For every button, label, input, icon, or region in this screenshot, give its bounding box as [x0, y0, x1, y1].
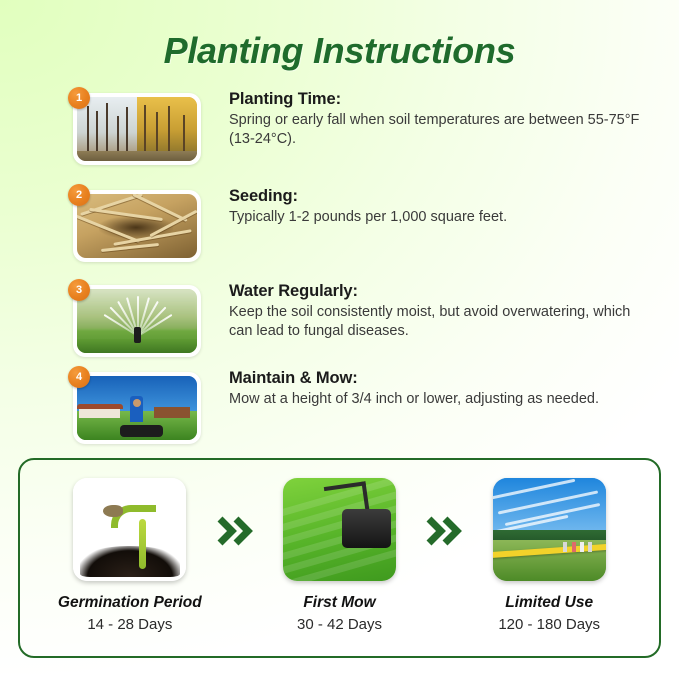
step-thumbnail-4: 4: [68, 372, 201, 444]
step-number-badge-1: 1: [68, 87, 90, 109]
page-title: Planting Instructions: [0, 0, 679, 72]
step-text-3: Water Regularly: Keep the soil consisten…: [201, 278, 644, 342]
step-number-badge-4: 4: [68, 366, 90, 388]
step-item-4: 4: [68, 365, 653, 444]
step-title-3: Water Regularly:: [229, 282, 644, 301]
timeline-stage-label-2: First Mow: [303, 594, 375, 612]
timeline-stage-label-3: Limited Use: [505, 594, 593, 612]
double-chevron-right-icon-2: [423, 512, 465, 550]
step-item-1: 1: [68, 86, 653, 165]
step-item-3: 3: [68, 278, 653, 357]
step-item-2: 2: [68, 183, 653, 262]
mowed-lawn-photo: [283, 478, 396, 581]
seed-sprout-photo: [73, 478, 186, 581]
step-thumbnail-2: 2: [68, 190, 201, 262]
person-mowing-photo: [77, 376, 197, 440]
step-description-1: Spring or early fall when soil temperatu…: [229, 111, 644, 150]
thumbnail-frame-4: [73, 372, 201, 444]
step-title-1: Planting Time:: [229, 90, 644, 109]
timeline-stage-germination: Germination Period 14 - 28 Days: [46, 478, 214, 633]
thumbnail-frame-1: [73, 93, 201, 165]
timeline-stage-limited-use: Limited Use 120 - 180 Days: [465, 478, 633, 633]
step-description-2: Typically 1-2 pounds per 1,000 square fe…: [229, 208, 507, 227]
step-description-3: Keep the soil consistently moist, but av…: [229, 303, 644, 342]
step-title-4: Maintain & Mow:: [229, 369, 599, 388]
step-text-1: Planting Time: Spring or early fall when…: [201, 86, 644, 150]
timeline-stage-days-1: 14 - 28 Days: [87, 616, 172, 633]
straw-mulch-photo: [77, 194, 197, 258]
step-description-4: Mow at a height of 3/4 inch or lower, ad…: [229, 390, 599, 409]
thumbnail-frame-3: [73, 285, 201, 357]
timeline-stage-label-1: Germination Period: [58, 594, 202, 612]
timeline-stage-days-3: 120 - 180 Days: [498, 616, 600, 633]
steps-list: 1: [0, 86, 679, 444]
step-thumbnail-3: 3: [68, 285, 201, 357]
step-number-badge-3: 3: [68, 279, 90, 301]
double-chevron-right-icon-1: [214, 512, 256, 550]
step-title-2: Seeding:: [229, 187, 507, 206]
step-text-4: Maintain & Mow: Mow at a height of 3/4 i…: [201, 365, 599, 409]
growth-timeline-panel: Germination Period 14 - 28 Days: [18, 458, 661, 658]
step-thumbnail-1: 1: [68, 93, 201, 165]
step-text-2: Seeding: Typically 1-2 pounds per 1,000 …: [201, 183, 507, 227]
autumn-trees-photo: [77, 97, 197, 161]
planting-instructions-poster: Planting Instructions 1: [0, 0, 679, 679]
step-number-badge-2: 2: [68, 184, 90, 206]
timeline-stage-days-2: 30 - 42 Days: [297, 616, 382, 633]
timeline-stage-first-mow: First Mow 30 - 42 Days: [256, 478, 424, 633]
sports-field-photo: [493, 478, 606, 581]
thumbnail-frame-2: [73, 190, 201, 262]
lawn-sprinkler-photo: [77, 289, 197, 353]
